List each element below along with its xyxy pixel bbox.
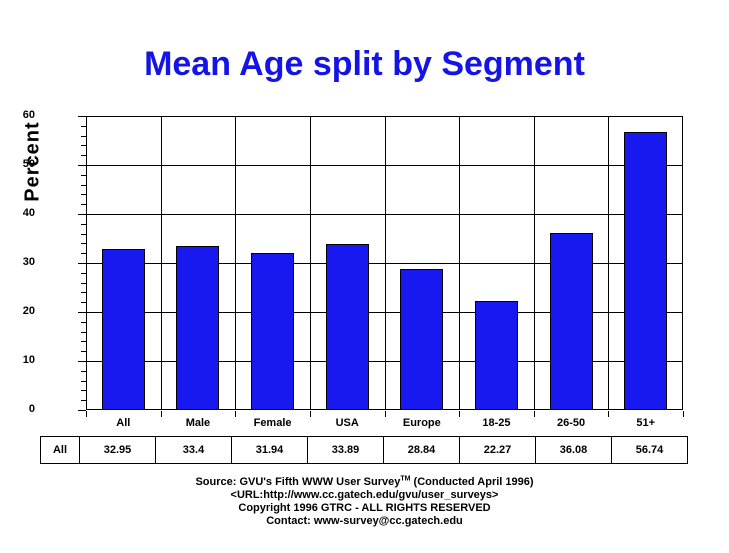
x-axis-label-all: All [86,417,161,430]
gridline-vertical [310,116,311,410]
y-tick-major [78,116,86,117]
gridline-vertical [534,116,535,410]
x-axis-label-male: Male [161,417,236,430]
table-cell-26-50: 36.08 [536,437,612,464]
bar-male [176,246,219,410]
data-table: All 32.9533.431.9433.8928.8422.2736.0856… [40,436,688,464]
footer-source-date: (Conducted April 1996) [410,476,533,488]
table-cell-51-: 56.74 [612,437,688,464]
plot-area [86,116,683,410]
y-tick-label: 10 [0,355,35,366]
gridline-vertical [235,116,236,410]
gridline-vertical [608,116,609,410]
y-tick-major [78,263,86,264]
chart-title: Mean Age split by Segment [0,44,729,84]
gridline-vertical [161,116,162,410]
footer-line-source: Source: GVU's Fifth WWW User SurveyTM (C… [0,476,729,489]
y-tick-major [78,361,86,362]
table-cell-all: 32.95 [80,437,156,464]
x-axis-label-18-25: 18-25 [459,417,534,430]
y-tick-major [78,165,86,166]
x-axis-label-usa: USA [310,417,385,430]
bar-europe [400,269,443,410]
y-tick-label: 50 [0,159,35,170]
x-axis-label-europe: Europe [385,417,460,430]
y-tick-label: 30 [0,257,35,268]
x-axis-label-26-50: 26-50 [534,417,609,430]
bar-usa [326,244,369,410]
table-cell-usa: 33.89 [308,437,384,464]
y-tick-label: 20 [0,306,35,317]
gridline-vertical [459,116,460,410]
bar-26-50 [550,233,593,410]
y-tick-major [78,410,86,411]
table-cell-male: 33.4 [156,437,232,464]
y-tick-major [78,214,86,215]
footer-line-copyright: Copyright 1996 GTRC - ALL RIGHTS RESERVE… [0,502,729,515]
y-tick-major [78,312,86,313]
y-tick-label: 40 [0,208,35,219]
trademark-mark: TM [400,475,410,482]
footer-line-url: <URL:http://www.cc.gatech.edu/gvu/user_s… [0,489,729,502]
bar-18-25 [475,301,518,410]
table-cell-europe: 28.84 [384,437,460,464]
footer-attribution: Source: GVU's Fifth WWW User SurveyTM (C… [0,476,729,528]
x-axis-label-51-: 51+ [608,417,683,430]
table-row-header: All [41,437,80,464]
table-cell-female: 31.94 [232,437,308,464]
footer-line-contact: Contact: www-survey@cc.gatech.edu [0,515,729,528]
footer-source-text: Source: GVU's Fifth WWW User Survey [195,476,400,488]
table-cell-18-25: 22.27 [460,437,536,464]
table-row: All 32.9533.431.9433.8928.8422.2736.0856… [41,437,688,464]
y-tick-label: 0 [0,404,35,415]
bar-female [251,253,294,410]
x-axis-label-female: Female [235,417,310,430]
x-tick [683,411,684,417]
gridline-vertical [385,116,386,410]
bar-51- [624,132,667,410]
bar-all [102,249,145,410]
y-tick-label: 60 [0,110,35,121]
